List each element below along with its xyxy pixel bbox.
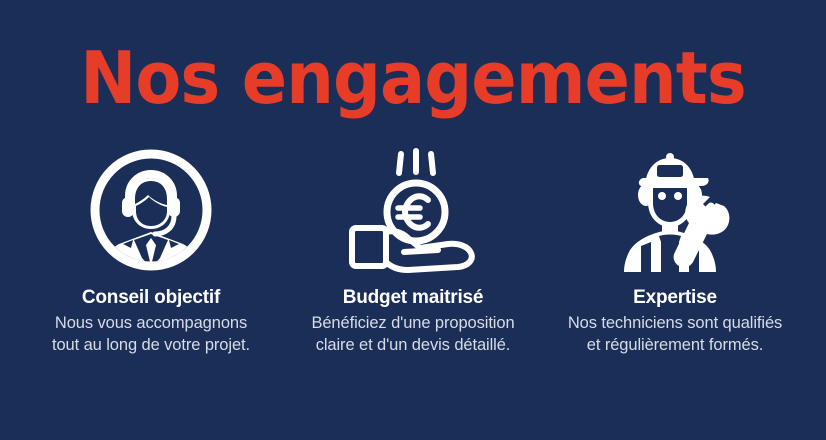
engagement-body: Nous vous accompagnons tout au long de v… [52,312,250,357]
support-agent-headset-icon [89,146,213,274]
engagement-item-conseil-objectif: Conseil objectif Nous vous accompagnons … [22,146,280,356]
engagements-column-list: Conseil objectif Nous vous accompagnons … [0,146,826,356]
engagement-body: Bénéficiez d'une proposition claire et d… [311,312,514,357]
engagement-item-expertise: Expertise Nos techniciens sont qualifiés… [546,146,804,356]
page-title: Nos engagements [29,42,797,114]
engagement-heading: Conseil objectif [82,287,220,309]
engagement-body-line-2: tout au long de votre projet. [52,336,250,354]
technician-with-wrench-icon [615,146,735,274]
engagement-heading: Budget maitrisé [343,287,484,309]
engagement-body-line-1: Nous vous accompagnons [55,314,247,332]
engagement-body-line-2: claire et d'un devis détaillé. [316,336,511,354]
engagements-banner: Nos engagements [0,0,826,440]
engagement-body-line-1: Bénéficiez d'une proposition [311,314,514,332]
engagement-body-line-2: et régulièrement formés. [587,336,763,354]
engagement-body-line-1: Nos techniciens sont qualifiés [568,314,782,332]
engagement-heading: Expertise [633,287,717,309]
engagement-body: Nos techniciens sont qualifiés et réguli… [568,312,782,357]
hand-holding-euro-coin-icon [346,146,480,274]
engagement-item-budget-maitrise: Budget maitrisé Bénéficiez d'une proposi… [284,146,542,356]
